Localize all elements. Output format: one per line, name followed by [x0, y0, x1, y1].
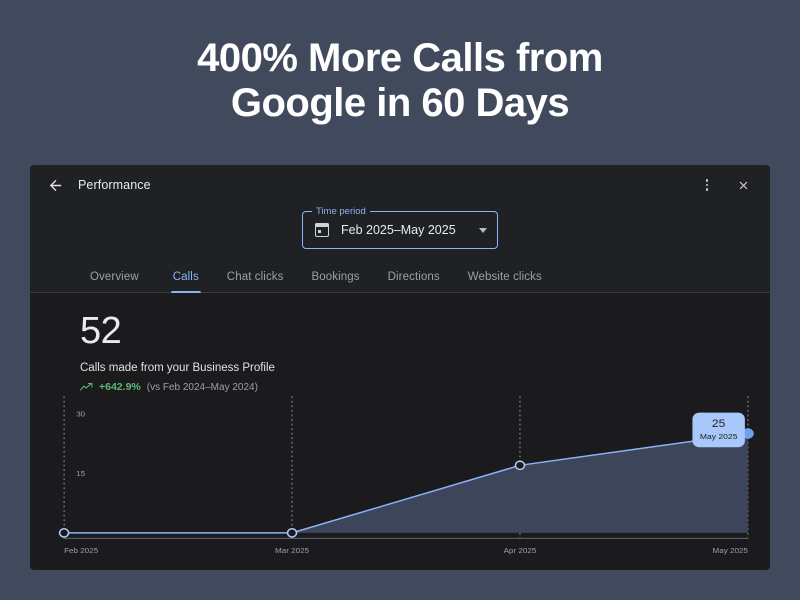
data-point[interactable] — [60, 529, 69, 537]
time-period-row: Time period Feb 2025–May 2025 — [30, 205, 770, 259]
chevron-down-icon[interactable] — [479, 228, 487, 233]
chart-tooltip: 25May 2025 — [692, 413, 744, 448]
y-tick-label: 30 — [76, 410, 85, 419]
chart-x-tick-labels: Feb 2025Mar 2025Apr 2025May 2025 — [64, 546, 748, 555]
titlebar: Performance — [30, 165, 770, 205]
metric-tabs: Overview Calls Chat clicks Bookings Dire… — [30, 259, 770, 293]
page-title: Performance — [78, 178, 151, 192]
x-tick-label: Apr 2025 — [504, 546, 537, 555]
tooltip-value: 25 — [712, 419, 725, 430]
page-headline: 400% More Calls from Google in 60 Days — [0, 0, 800, 126]
arrow-left-icon — [47, 177, 64, 194]
x-tick-label: May 2025 — [713, 546, 748, 555]
data-point[interactable] — [288, 529, 297, 537]
tab-website-clicks[interactable]: Website clicks — [454, 271, 556, 292]
tab-directions[interactable]: Directions — [374, 271, 454, 292]
headline-line-1: 400% More Calls from — [60, 36, 740, 81]
more-options-button[interactable] — [694, 172, 720, 198]
close-button[interactable] — [730, 172, 756, 198]
tab-calls[interactable]: Calls — [159, 271, 213, 292]
metric-value: 52 — [52, 311, 742, 351]
headline-line-2: Google in 60 Days — [60, 81, 740, 126]
data-point[interactable] — [515, 461, 524, 469]
tab-chat-clicks[interactable]: Chat clicks — [213, 271, 298, 292]
performance-panel: Performance Time period Feb 2025–May 202… — [30, 165, 770, 570]
more-vertical-icon — [706, 179, 709, 191]
time-period-label: Time period — [312, 206, 370, 217]
time-period-value: Feb 2025–May 2025 — [341, 223, 479, 237]
x-tick-label: Feb 2025 — [64, 546, 98, 555]
calls-area-chart: 1530 Feb 2025Mar 2025Apr 2025May 2025 25… — [52, 389, 758, 562]
calendar-icon — [315, 223, 329, 237]
tab-bookings[interactable]: Bookings — [298, 271, 374, 292]
panel-body: 52 Calls made from your Business Profile… — [30, 293, 770, 570]
time-period-select[interactable]: Time period Feb 2025–May 2025 — [302, 211, 498, 249]
calls-chart: 1530 Feb 2025Mar 2025Apr 2025May 2025 25… — [52, 389, 758, 562]
metric-label: Calls made from your Business Profile — [52, 362, 742, 374]
close-icon — [737, 179, 750, 192]
tab-overview[interactable]: Overview — [90, 271, 153, 292]
panel-header: Performance Time period Feb 2025–May 202… — [30, 165, 770, 293]
back-button[interactable] — [42, 172, 68, 198]
chart-y-tick-labels: 1530 — [76, 410, 85, 478]
x-tick-label: Mar 2025 — [275, 546, 309, 555]
y-tick-label: 15 — [76, 469, 85, 478]
tooltip-label: May 2025 — [700, 432, 738, 441]
